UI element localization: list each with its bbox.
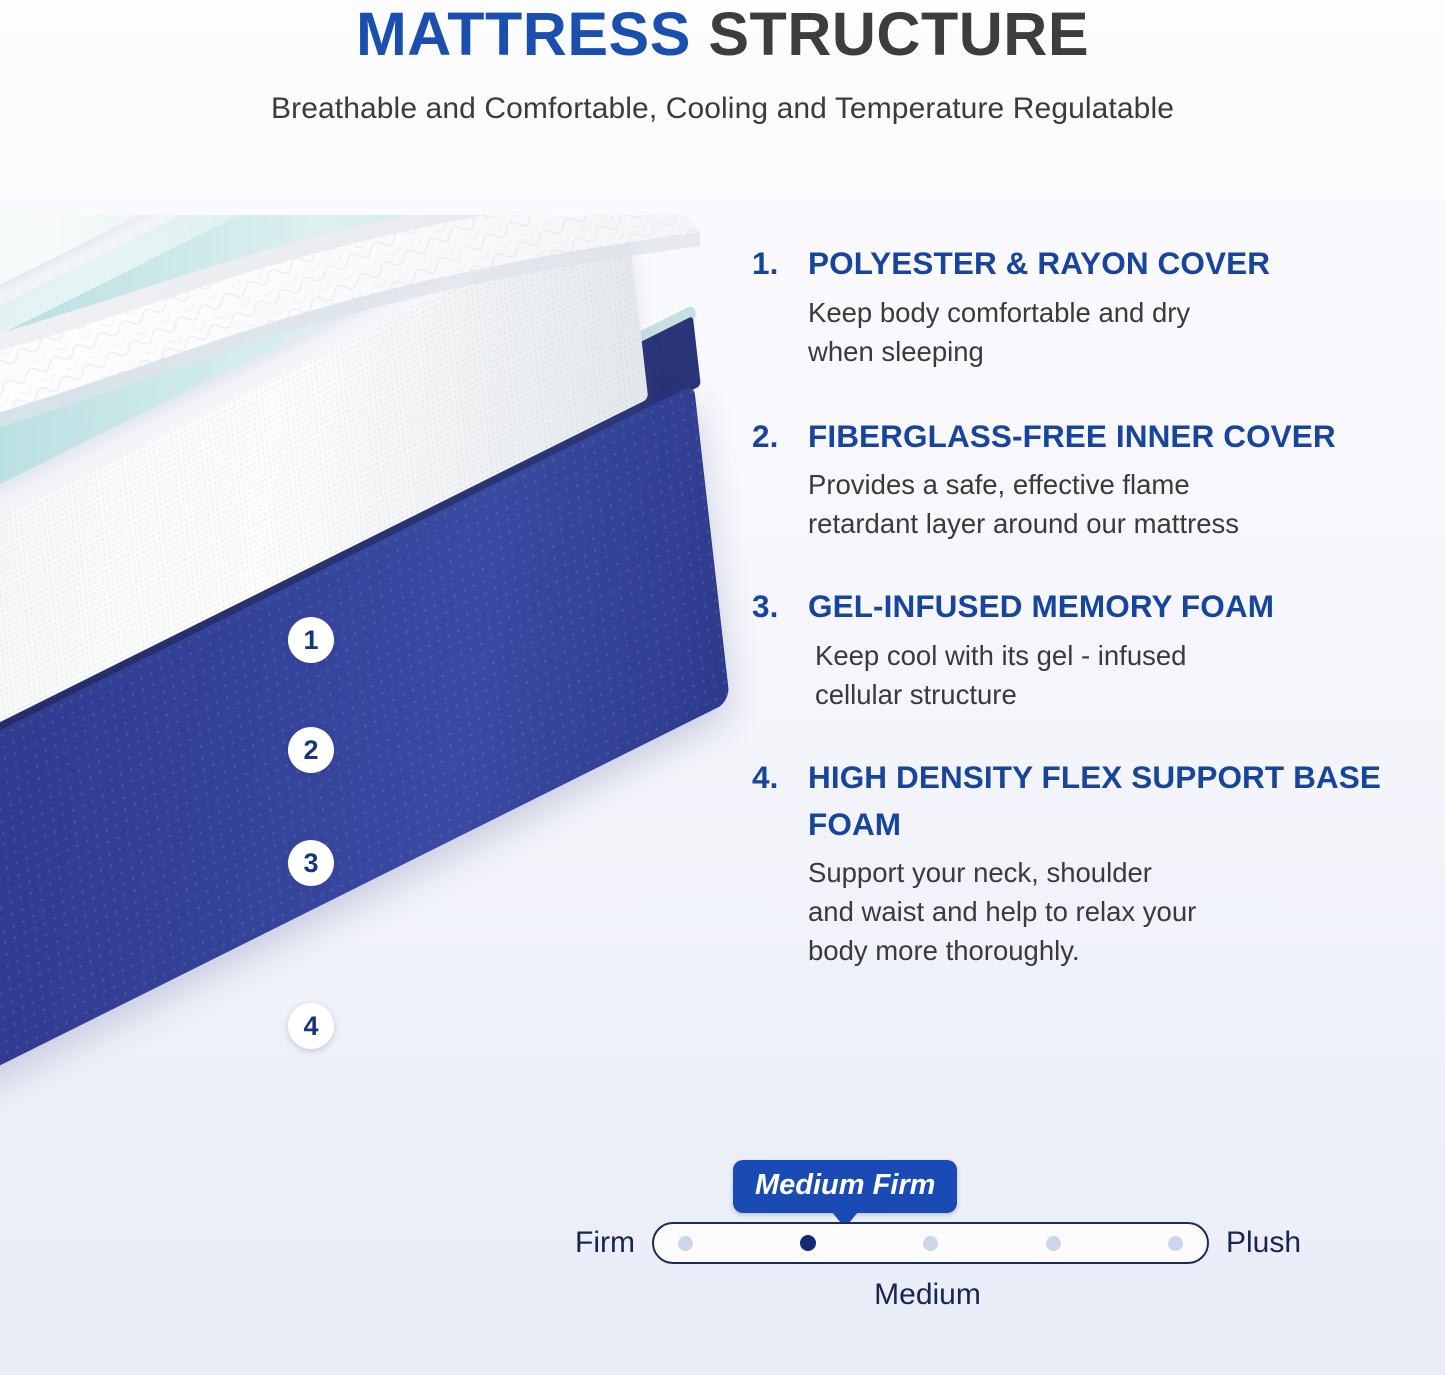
firmness-scale-row: Firm Plush xyxy=(575,1222,1301,1264)
feature-3-number: 3. xyxy=(752,583,808,630)
callout-badge-2: 2 xyxy=(288,727,334,773)
page-header: MATTRESS STRUCTURE Breathable and Comfor… xyxy=(0,0,1445,126)
firmness-label-plush: Plush xyxy=(1226,1226,1301,1260)
firmness-scale: Medium Firm Firm Plush Medium xyxy=(575,1160,1375,1335)
firmness-dot-3[interactable] xyxy=(923,1236,938,1251)
feature-4-heading: 4. HIGH DENSITY FLEX SUPPORT BASE FOAM xyxy=(752,754,1417,847)
firmness-slider-track[interactable] xyxy=(652,1222,1209,1264)
feature-1-description: Keep body comfortable and dry when sleep… xyxy=(808,293,1417,371)
feature-3-heading: 3. GEL-INFUSED MEMORY FOAM xyxy=(752,583,1417,630)
firmness-dot-2-selected[interactable] xyxy=(800,1235,816,1251)
feature-1-heading: 1. POLYESTER & RAYON COVER xyxy=(752,240,1417,287)
firmness-tooltip: Medium Firm xyxy=(733,1160,957,1213)
callout-badge-3: 3 xyxy=(288,840,334,886)
firmness-sub-label: Medium xyxy=(575,1278,1280,1312)
feature-item-2: 2. FIBERGLASS-FREE INNER COVER Provides … xyxy=(752,413,1417,544)
quilted-cover-sheet xyxy=(0,215,700,520)
feature-4-title: HIGH DENSITY FLEX SUPPORT BASE FOAM xyxy=(808,754,1417,847)
feature-2-description: Provides a safe, effective flame retarda… xyxy=(808,465,1417,543)
feature-item-3: 3. GEL-INFUSED MEMORY FOAM Keep cool wit… xyxy=(752,583,1417,714)
page-title-spacer xyxy=(691,0,708,68)
feature-item-1: 1. POLYESTER & RAYON COVER Keep body com… xyxy=(752,240,1417,371)
feature-3-description: Keep cool with its gel - infused cellula… xyxy=(815,636,1417,714)
feature-1-title: POLYESTER & RAYON COVER xyxy=(808,240,1417,287)
firmness-label-firm: Firm xyxy=(575,1226,635,1260)
callout-badge-4: 4 xyxy=(288,1003,334,1049)
firmness-dot-5[interactable] xyxy=(1168,1236,1183,1251)
firmness-dot-1[interactable] xyxy=(678,1236,693,1251)
page-title-secondary: STRUCTURE xyxy=(708,0,1089,68)
page-title-primary: MATTRESS xyxy=(356,0,691,68)
feature-3-title: GEL-INFUSED MEMORY FOAM xyxy=(808,583,1417,630)
page-subtitle: Breathable and Comfortable, Cooling and … xyxy=(0,92,1445,126)
feature-2-number: 2. xyxy=(752,413,808,460)
page-title: MATTRESS STRUCTURE xyxy=(0,2,1445,68)
callout-badge-1: 1 xyxy=(288,617,334,663)
feature-list: 1. POLYESTER & RAYON COVER Keep body com… xyxy=(752,240,1417,980)
feature-2-title: FIBERGLASS-FREE INNER COVER xyxy=(808,413,1417,460)
feature-4-description: Support your neck, shoulder and waist an… xyxy=(808,853,1417,970)
feature-4-number: 4. xyxy=(752,754,808,801)
feature-item-4: 4. HIGH DENSITY FLEX SUPPORT BASE FOAM S… xyxy=(752,754,1417,970)
feature-1-number: 1. xyxy=(752,240,808,287)
firmness-dot-4[interactable] xyxy=(1046,1236,1061,1251)
feature-2-heading: 2. FIBERGLASS-FREE INNER COVER xyxy=(752,413,1417,460)
